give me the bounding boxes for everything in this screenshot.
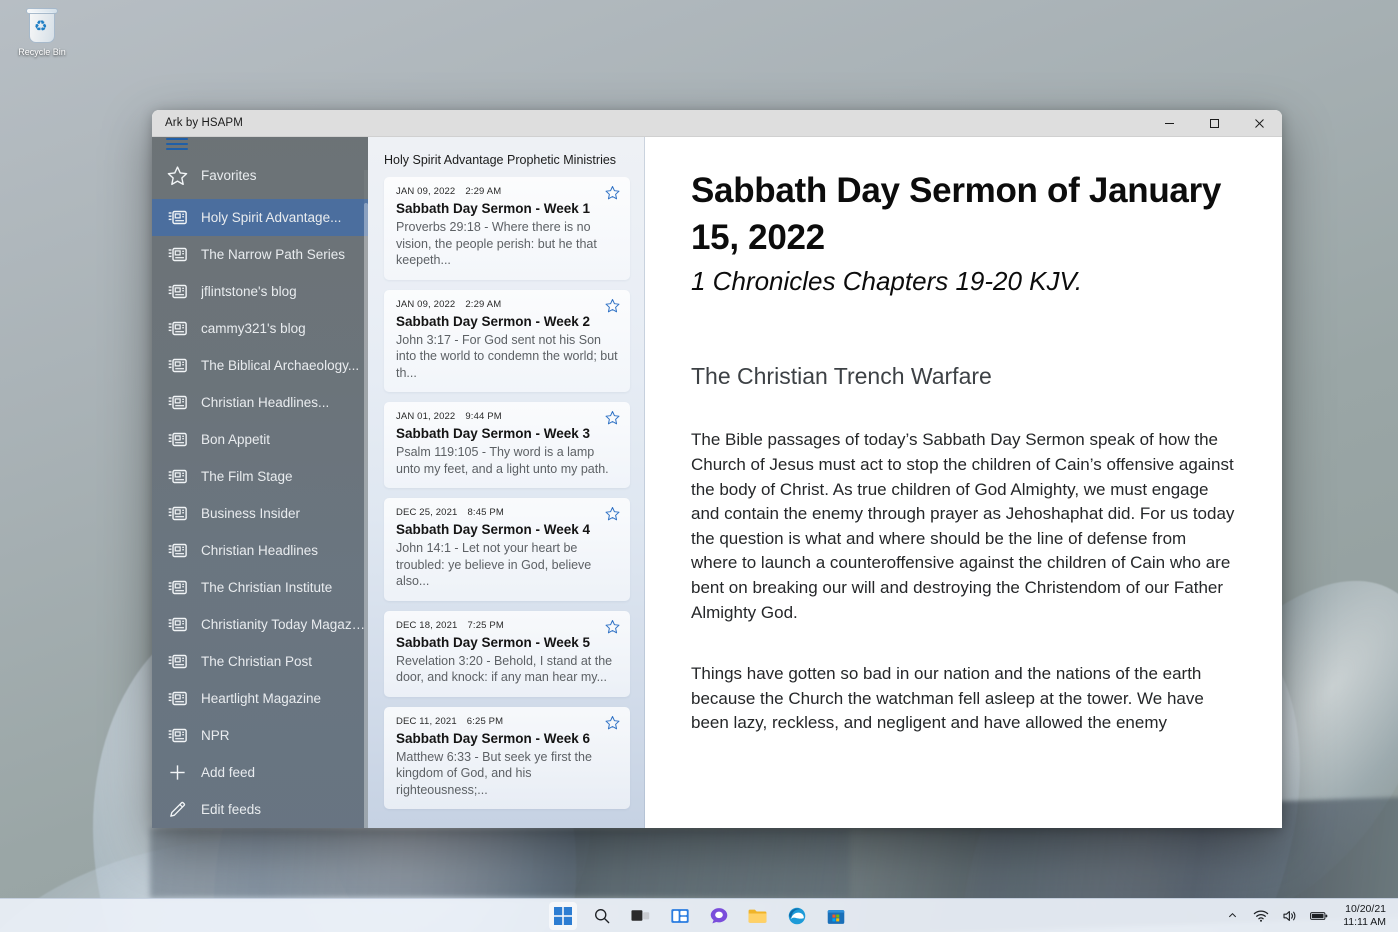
article-body: The Bible passages of today’s Sabbath Da…: [691, 428, 1236, 736]
article-subtitle: 1 Chronicles Chapters 19-20 KJV.: [691, 264, 1236, 299]
article-paragraph: The Bible passages of today’s Sabbath Da…: [691, 428, 1236, 625]
article-item-excerpt: John 3:17 - For God sent not his Son int…: [396, 332, 618, 382]
article-date: DEC 11, 2021: [396, 716, 457, 727]
chevron-up-icon[interactable]: [1223, 907, 1241, 925]
sidebar-item-label: Bon Appetit: [201, 432, 270, 447]
article-time: 2:29 AM: [465, 299, 501, 310]
article-item-excerpt: Revelation 3:20 - Behold, I stand at the…: [396, 653, 618, 686]
article-item-title: Sabbath Day Sermon - Week 1: [396, 201, 618, 216]
sidebar-item-christian-headlines[interactable]: Christian Headlines: [152, 532, 368, 569]
star-outline-icon: [605, 619, 620, 634]
sidebar-item-christianity-today-magazine[interactable]: Christianity Today Magazine: [152, 606, 368, 643]
article-item-title: Sabbath Day Sermon - Week 5: [396, 635, 618, 650]
close-icon: [1254, 118, 1265, 129]
article-meta: JAN 09, 20222:29 AM: [396, 299, 618, 310]
app-window: Ark by HSAPM FavoritesHoly Spirit Advant…: [152, 110, 1282, 828]
sidebar-item-label: NPR: [201, 728, 230, 743]
article-item-title: Sabbath Day Sermon - Week 4: [396, 522, 618, 537]
favorite-star-icon[interactable]: [605, 298, 620, 313]
article-meta: DEC 25, 20218:45 PM: [396, 507, 618, 518]
task-view-icon: [631, 908, 650, 924]
feed-title: Holy Spirit Advantage Prophetic Ministri…: [368, 137, 644, 177]
sidebar-scrollbar-thumb[interactable]: [364, 203, 368, 828]
article-item-title: Sabbath Day Sermon - Week 3: [396, 426, 618, 441]
article-time: 6:25 PM: [467, 716, 503, 727]
sidebar-item-the-christian-post[interactable]: The Christian Post: [152, 643, 368, 680]
hamburger-menu-icon: [166, 138, 188, 153]
article-list-panel: Holy Spirit Advantage Prophetic Ministri…: [368, 137, 645, 828]
sidebar-item-favorites[interactable]: Favorites: [152, 155, 368, 195]
minimize-icon: [1164, 118, 1175, 129]
feed-icon: [166, 653, 188, 671]
feed-icon: [166, 727, 188, 745]
article-title: Sabbath Day Sermon of January 15, 2022: [691, 167, 1236, 262]
chat-icon: [710, 907, 728, 924]
sidebar-item-npr[interactable]: NPR: [152, 717, 368, 754]
pencil-icon: [166, 801, 188, 819]
sidebar-item-label: Business Insider: [201, 506, 300, 521]
article-list-item[interactable]: JAN 09, 20222:29 AMSabbath Day Sermon - …: [384, 290, 630, 393]
feed-icon: [166, 431, 188, 449]
wallpaper-shadow: [150, 828, 850, 898]
favorite-star-icon[interactable]: [605, 410, 620, 425]
article-item-title: Sabbath Day Sermon - Week 2: [396, 314, 618, 329]
article-date: JAN 09, 2022: [396, 299, 455, 310]
article-item-excerpt: Proverbs 29:18 - Where there is no visio…: [396, 219, 618, 269]
recycle-bin-label: Recycle Bin: [6, 47, 78, 58]
article-date: DEC 25, 2021: [396, 507, 457, 518]
article-list[interactable]: JAN 09, 20222:29 AMSabbath Day Sermon - …: [368, 177, 644, 828]
sidebar-item-label: The Narrow Path Series: [201, 247, 345, 262]
article-item-excerpt: Psalm 119:105 - Thy word is a lamp unto …: [396, 444, 618, 477]
feed-icon: [168, 432, 187, 447]
feed-icon: [166, 468, 188, 486]
task-view-button[interactable]: [627, 902, 655, 930]
speaker-icon[interactable]: [1281, 907, 1299, 925]
sidebar-item-heartlight-magazine[interactable]: Heartlight Magazine: [152, 680, 368, 717]
article-section-heading: The Christian Trench Warfare: [691, 362, 1236, 392]
feed-icon: [168, 321, 187, 336]
sidebar-item-business-insider[interactable]: Business Insider: [152, 495, 368, 532]
sidebar-item-label: The Film Stage: [201, 469, 293, 484]
window-body: FavoritesHoly Spirit Advantage...The Nar…: [152, 137, 1282, 828]
search-icon: [593, 907, 611, 925]
recycle-bin-icon: ♻: [25, 8, 59, 44]
sidebar-item-label: Heartlight Magazine: [201, 691, 321, 706]
file-explorer-button[interactable]: [744, 902, 772, 930]
sidebar-item-the-biblical-archaeology[interactable]: The Biblical Archaeology...: [152, 347, 368, 384]
window-title: Ark by HSAPM: [152, 117, 243, 129]
sidebar-item-jflintstone-s-blog[interactable]: jflintstone's blog: [152, 273, 368, 310]
star-outline-icon: [605, 506, 620, 521]
favorite-star-icon[interactable]: [605, 506, 620, 521]
feed-icon: [166, 616, 188, 634]
chat-button[interactable]: [705, 902, 733, 930]
sidebar-item-label: jflintstone's blog: [201, 284, 297, 299]
sidebar-item-the-christian-institute[interactable]: The Christian Institute: [152, 569, 368, 606]
sidebar-item-label: Christian Headlines: [201, 543, 318, 558]
feed-icon: [168, 358, 187, 373]
widgets-button[interactable]: [666, 902, 694, 930]
folder-icon: [748, 908, 767, 924]
hamburger-menu-button[interactable]: [152, 137, 368, 153]
sidebar-item-label: Favorites: [201, 168, 257, 183]
maximize-icon: [1209, 118, 1220, 129]
feed-icon: [168, 728, 187, 743]
feed-icon: [166, 542, 188, 560]
sidebar: FavoritesHoly Spirit Advantage...The Nar…: [152, 137, 368, 828]
sidebar-item-edit-feeds[interactable]: Edit feeds: [152, 791, 368, 828]
star-outline-icon: [605, 715, 620, 730]
feed-icon: [168, 654, 187, 669]
sidebar-item-label: Christianity Today Magazine: [201, 617, 368, 632]
sidebar-item-the-narrow-path-series[interactable]: The Narrow Path Series: [152, 236, 368, 273]
feed-icon: [168, 395, 187, 410]
article-paragraph: Things have gotten so bad in our nation …: [691, 662, 1236, 736]
article-list-item[interactable]: DEC 18, 20217:25 PMSabbath Day Sermon - …: [384, 611, 630, 697]
star-icon: [166, 166, 188, 184]
feed-icon: [168, 617, 187, 632]
wifi-icon[interactable]: [1252, 907, 1270, 925]
feed-icon: [166, 505, 188, 523]
sidebar-item-cammy321-s-blog[interactable]: cammy321's blog: [152, 310, 368, 347]
feed-icon: [166, 690, 188, 708]
taskbar-buttons: [0, 902, 1398, 930]
battery-icon[interactable]: [1310, 907, 1328, 925]
feed-icon: [168, 580, 187, 595]
maximize-button[interactable]: [1192, 110, 1237, 137]
sidebar-item-add-feed[interactable]: Add feed: [152, 754, 368, 791]
feed-icon: [166, 209, 188, 227]
feed-icon: [168, 543, 187, 558]
sidebar-item-label: cammy321's blog: [201, 321, 306, 336]
clock[interactable]: 10/20/21 11:11 AM: [1339, 903, 1390, 928]
star-outline-icon: [605, 298, 620, 313]
widgets-icon: [671, 908, 689, 924]
article-meta: JAN 01, 20229:44 PM: [396, 411, 618, 422]
sidebar-item-label: Holy Spirit Advantage...: [201, 210, 341, 225]
article-time: 7:25 PM: [467, 620, 503, 631]
feed-icon: [168, 210, 187, 225]
article-meta: DEC 11, 20216:25 PM: [396, 716, 618, 727]
article-list-item[interactable]: DEC 11, 20216:25 PMSabbath Day Sermon - …: [384, 707, 630, 810]
sidebar-item-list: FavoritesHoly Spirit Advantage...The Nar…: [152, 153, 368, 828]
edge-button[interactable]: [783, 902, 811, 930]
article-date: JAN 01, 2022: [396, 411, 455, 422]
plus-icon: [166, 764, 188, 782]
star-icon: [167, 165, 188, 186]
close-button[interactable]: [1237, 110, 1282, 137]
clock-time: 11:11 AM: [1343, 916, 1386, 929]
feed-icon: [168, 691, 187, 706]
article-list-item[interactable]: DEC 25, 20218:45 PMSabbath Day Sermon - …: [384, 498, 630, 601]
minimize-button[interactable]: [1147, 110, 1192, 137]
feed-icon: [166, 283, 188, 301]
article-meta: JAN 09, 20222:29 AM: [396, 186, 618, 197]
sidebar-item-label: Christian Headlines...: [201, 395, 329, 410]
sidebar-item-label: Add feed: [201, 765, 255, 780]
feed-icon: [168, 247, 187, 262]
article-time: 2:29 AM: [465, 186, 501, 197]
sidebar-item-label: The Christian Institute: [201, 580, 332, 595]
windows-logo-icon: [554, 907, 572, 925]
taskbar: 10/20/21 11:11 AM: [0, 898, 1398, 932]
start-button[interactable]: [549, 902, 577, 930]
clock-date: 10/20/21: [1343, 903, 1386, 916]
star-outline-icon: [605, 410, 620, 425]
favorite-star-icon[interactable]: [605, 619, 620, 634]
feed-icon: [166, 394, 188, 412]
article-reader-pane[interactable]: Sabbath Day Sermon of January 15, 2022 1…: [645, 137, 1282, 828]
article-item-title: Sabbath Day Sermon - Week 6: [396, 731, 618, 746]
pencil-icon: [168, 800, 187, 819]
feed-icon: [166, 357, 188, 375]
sidebar-item-christian-headlines[interactable]: Christian Headlines...: [152, 384, 368, 421]
sidebar-item-the-film-stage[interactable]: The Film Stage: [152, 458, 368, 495]
star-outline-icon: [605, 185, 620, 200]
store-button[interactable]: [822, 902, 850, 930]
sidebar-item-holy-spirit-advantage[interactable]: Holy Spirit Advantage...: [152, 199, 368, 236]
edge-icon: [788, 907, 806, 925]
sidebar-scrollbar[interactable]: [364, 170, 368, 828]
article-date: DEC 18, 2021: [396, 620, 457, 631]
article-item-excerpt: Matthew 6:33 - But seek ye first the kin…: [396, 749, 618, 799]
window-titlebar[interactable]: Ark by HSAPM: [152, 110, 1282, 137]
recycle-bin-desktop-icon[interactable]: ♻ Recycle Bin: [6, 8, 78, 58]
sidebar-item-bon-appetit[interactable]: Bon Appetit: [152, 421, 368, 458]
article-item-excerpt: John 14:1 - Let not your heart be troubl…: [396, 540, 618, 590]
search-button[interactable]: [588, 902, 616, 930]
feed-icon: [166, 320, 188, 338]
feed-icon: [168, 284, 187, 299]
article-list-item[interactable]: JAN 01, 20229:44 PMSabbath Day Sermon - …: [384, 402, 630, 488]
sidebar-item-label: Edit feeds: [201, 802, 261, 817]
feed-icon: [168, 469, 187, 484]
plus-icon: [168, 763, 187, 782]
microsoft-store-icon: [827, 907, 845, 925]
sidebar-item-label: The Biblical Archaeology...: [201, 358, 359, 373]
article-date: JAN 09, 2022: [396, 186, 455, 197]
sidebar-item-label: The Christian Post: [201, 654, 312, 669]
article-time: 8:45 PM: [467, 507, 503, 518]
article-meta: DEC 18, 20217:25 PM: [396, 620, 618, 631]
system-tray: 10/20/21 11:11 AM: [1223, 899, 1390, 932]
article-time: 9:44 PM: [465, 411, 501, 422]
favorite-star-icon[interactable]: [605, 185, 620, 200]
feed-icon: [166, 246, 188, 264]
favorite-star-icon[interactable]: [605, 715, 620, 730]
feed-icon: [168, 506, 187, 521]
feed-icon: [166, 579, 188, 597]
article-list-item[interactable]: JAN 09, 20222:29 AMSabbath Day Sermon - …: [384, 177, 630, 280]
